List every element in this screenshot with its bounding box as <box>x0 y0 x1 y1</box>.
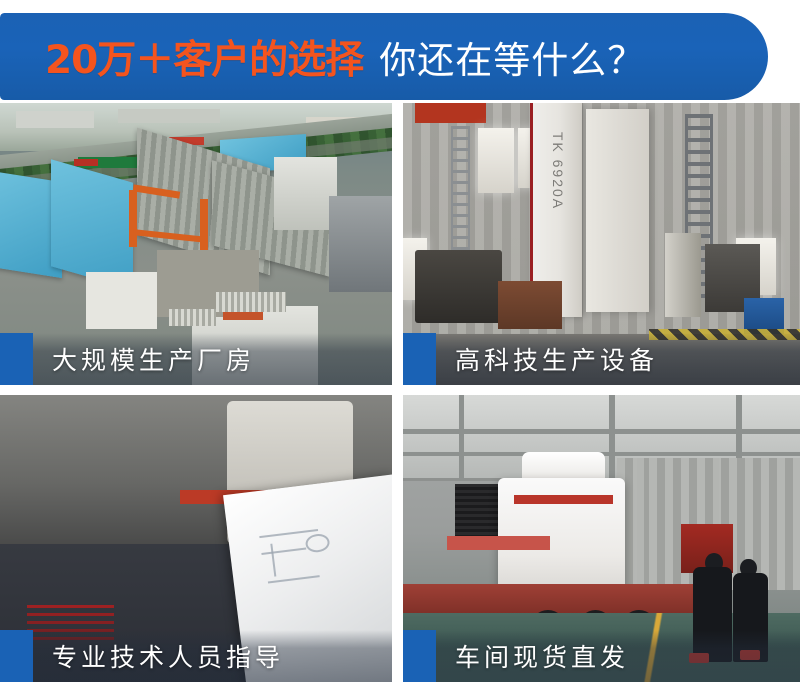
gallery-item-technical-staff[interactable]: 专业技术人员指导 <box>0 395 392 682</box>
roof-column <box>609 395 615 481</box>
gallery-caption: 大规模生产厂房 <box>52 341 255 377</box>
caption-accent-bar <box>403 333 436 385</box>
warehouse-building <box>86 272 157 328</box>
header-banner: 20万＋客户的选择 你还在等什么？ <box>0 13 768 100</box>
stored-equipment <box>216 292 287 312</box>
gallery-item-production-equipment[interactable]: 高科技生产设备 <box>403 103 800 385</box>
stored-steel <box>223 312 262 320</box>
control-cabinet <box>665 233 701 318</box>
large-workpiece <box>415 250 502 323</box>
photo-crusher-on-flatbed: 车间现货直发 <box>403 395 800 682</box>
distant-building <box>118 109 220 123</box>
office-building <box>329 196 392 292</box>
machine-side-column <box>586 109 650 312</box>
caption-accent-bar <box>403 630 436 682</box>
hall-column <box>637 458 643 590</box>
caption-text-wrap: 高科技生产设备 <box>403 333 800 385</box>
caption-text-wrap: 专业技术人员指导 <box>0 630 392 682</box>
gantry-crane-leg <box>129 190 137 246</box>
blueprint-line <box>262 548 307 555</box>
banner-subtitle-text: 你还在等什么？ <box>379 30 645 84</box>
banner-highlight-text: 20万＋客户的选择 <box>45 29 363 85</box>
blue-roof-warehouse <box>51 159 133 290</box>
photo-engineers-blueprint: 专业技术人员指导 <box>0 395 392 682</box>
header-banner-text: 20万＋客户的选择 你还在等什么？ <box>0 29 645 85</box>
gallery-caption: 车间现货直发 <box>455 638 629 674</box>
red-ceiling-beam <box>415 103 486 123</box>
gallery-item-factory-campus[interactable]: 大规模生产厂房 <box>0 103 392 385</box>
blueprint-line <box>271 543 277 576</box>
crusher-red-ring <box>514 495 613 504</box>
caption-accent-bar <box>0 630 33 682</box>
caption-text-wrap: 车间现货直发 <box>403 630 800 682</box>
blueprint-circle <box>305 532 331 553</box>
photo-aerial-factory-campus: 大规模生产厂房 <box>0 103 392 385</box>
office-building <box>274 157 337 230</box>
signboard-red <box>74 159 98 166</box>
stored-equipment <box>169 309 216 326</box>
roof-column <box>459 395 465 481</box>
promotional-banner-page: 20万＋客户的选择 你还在等什么？ <box>0 0 800 682</box>
distant-building <box>16 111 94 128</box>
gallery-item-stock-shipping[interactable]: 车间现货直发 <box>403 395 800 682</box>
gallery-caption: 高科技生产设备 <box>455 341 658 377</box>
caption-accent-bar <box>0 333 33 385</box>
gallery-caption: 专业技术人员指导 <box>52 638 284 674</box>
crusher-base-plate <box>447 536 550 550</box>
photo-gallery-grid: 大规模生产厂房 <box>0 103 800 682</box>
hall-window <box>478 128 514 193</box>
photo-cnc-boring-machine: 高科技生产设备 <box>403 103 800 385</box>
rusted-casting <box>498 281 562 329</box>
caption-text-wrap: 大规模生产厂房 <box>0 333 392 385</box>
blueprint-line <box>269 575 321 583</box>
